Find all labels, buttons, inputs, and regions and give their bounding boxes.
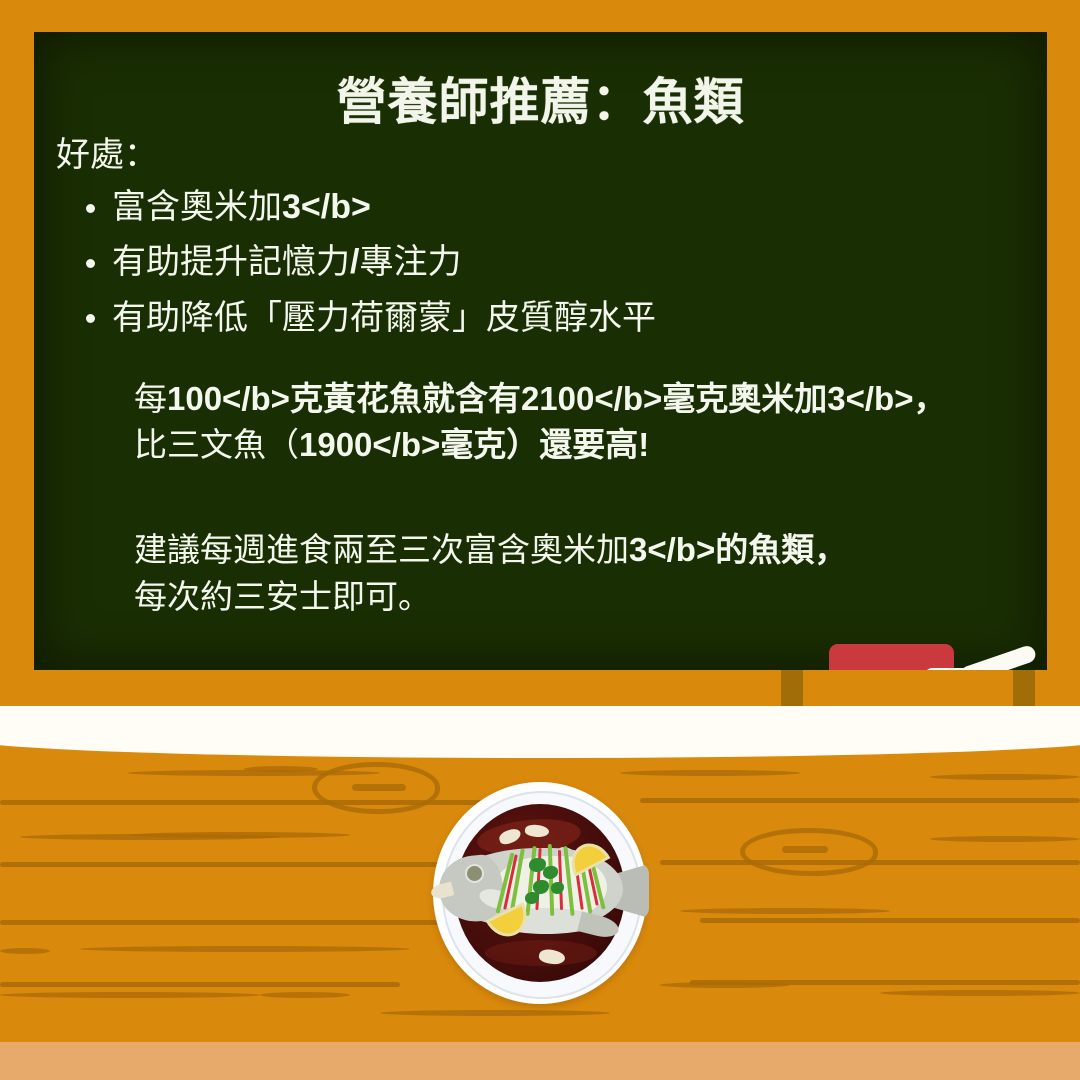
wood-plank-line xyxy=(700,918,1080,923)
wood-grain xyxy=(0,948,50,954)
wood-grain xyxy=(0,992,260,998)
page-title: 營養師推薦：魚類 xyxy=(34,62,1047,134)
fact-line: 比三文魚（1900</b>毫克）還要高! xyxy=(134,422,1016,469)
fact-line: 每100</b>克黃花魚就含有2100</b>毫克奧米加3</b>， xyxy=(134,376,1016,423)
wood-plank-line xyxy=(0,982,400,987)
wood-grain xyxy=(130,832,350,838)
serving-advice-block: 建議每週進食兩至三次富含奧米加3</b>的魚類， 每次約三安士即可。 xyxy=(134,527,1016,621)
list-item: 富含奧米加3</b> xyxy=(112,180,1016,235)
benefits-label: 好處： xyxy=(56,137,1016,174)
wood-grain xyxy=(620,770,800,776)
wood-plank-line xyxy=(0,862,480,867)
bottom-accent-strip xyxy=(0,1042,1080,1080)
benefits-list: 富含奧米加3</b> 有助提升記憶力/專注力 有助降低「壓力荷爾蒙」皮質醇水平 xyxy=(56,180,1016,345)
wood-grain xyxy=(930,836,1080,842)
top-orange-panel: 營養師推薦：魚類 好處： 富含奧米加3</b> 有助提升記憶力/專注力 有助降低… xyxy=(0,0,1080,706)
wood-grain xyxy=(380,1010,610,1016)
wood-grain xyxy=(244,766,318,772)
steamed-fish-dish xyxy=(433,782,647,1004)
wood-plank-line xyxy=(0,920,440,925)
fish-eye xyxy=(465,864,484,883)
wood-knot-core xyxy=(782,846,828,853)
chalkboard-content: 好處： 富含奧米加3</b> 有助提升記憶力/專注力 有助降低「壓力荷爾蒙」皮質… xyxy=(56,137,1016,621)
wood-grain xyxy=(660,982,790,988)
wood-grain xyxy=(80,946,410,952)
wood-knot-core xyxy=(352,784,406,791)
advice-line: 每次約三安士即可。 xyxy=(134,574,1016,621)
wood-plank-line xyxy=(640,798,1080,803)
advice-line: 建議每週進食兩至三次富含奧米加3</b>的魚類， xyxy=(134,527,1016,574)
omega3-fact-block: 每100</b>克黃花魚就含有2100</b>毫克奧米加3</b>， 比三文魚（… xyxy=(134,376,1016,470)
list-item: 有助提升記憶力/專注力 xyxy=(112,235,1016,290)
chalkboard: 營養師推薦：魚類 好處： 富含奧米加3</b> 有助提升記憶力/專注力 有助降低… xyxy=(34,32,1047,670)
wood-grain xyxy=(880,990,1080,996)
wood-grain xyxy=(260,992,350,998)
chalk-stick-icon xyxy=(958,644,1037,670)
eraser-icon xyxy=(829,644,954,670)
wood-grain xyxy=(930,774,1080,780)
nutrition-poster: 營養師推薦：魚類 好處： 富含奧米加3</b> 有助提升記憶力/專注力 有助降低… xyxy=(0,0,1080,1080)
list-item: 有助降低「壓力荷爾蒙」皮質醇水平 xyxy=(112,291,1016,346)
wood-grain xyxy=(680,908,890,914)
